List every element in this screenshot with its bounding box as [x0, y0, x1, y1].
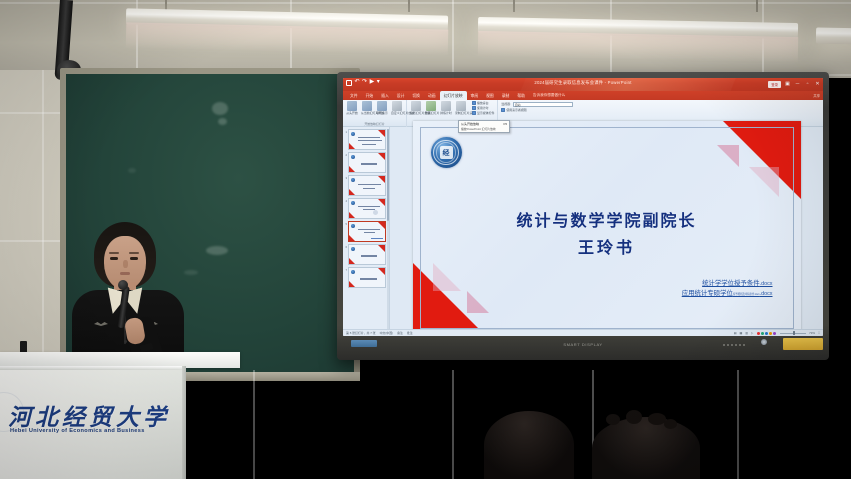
zoom-slider[interactable] [780, 333, 806, 334]
window-title: 2024届研究生录取信息发布会课件 - PowerPoint [343, 80, 823, 86]
slide-thumbnail[interactable] [348, 129, 386, 150]
close-icon[interactable]: ✕ [814, 80, 821, 89]
lecture-hall-scene: 讲台管理 违者必究 河北经贸大学 Hebei University of Eco… [0, 0, 851, 479]
ribbon-tooltip: 从头开始放映 F5 播放PowerPoint 幻灯片放映 [458, 120, 510, 133]
university-seal-icon: 经 [431, 137, 462, 168]
tab-help[interactable]: 帮助 [513, 91, 529, 100]
ppt-workspace: 1 2 [343, 127, 823, 329]
audience-head-1 [484, 411, 574, 479]
app-name: PowerPoint [608, 80, 632, 85]
list-item[interactable]: 3 [344, 175, 388, 196]
list-item[interactable]: 7 [344, 267, 388, 288]
tab-review[interactable]: 审阅 [467, 91, 483, 100]
share-button[interactable]: 共享 [813, 93, 820, 98]
ppt-title-bar: ↶ ↷ ▶ ▾ 2024届研究生录取信息发布会课件 - PowerPoint 登… [343, 78, 823, 91]
thumbnail-scrollbar-thumb[interactable] [387, 129, 389, 221]
document-title: 2024届研究生录取信息发布会课件 [534, 80, 603, 85]
ceiling [0, 0, 851, 78]
checkbox-icon[interactable] [501, 108, 505, 112]
power-button-icon[interactable] [761, 339, 767, 345]
tooltip-shortcut: F5 [503, 122, 507, 126]
tab-slideshow[interactable]: 幻灯片放映 [440, 91, 467, 100]
tab-insert[interactable]: 插入 [377, 91, 393, 100]
checkbox-play-narrations[interactable]: 播放旁白 [472, 101, 494, 105]
ime-status-indicator[interactable] [756, 332, 777, 335]
presenter-speaker [68, 222, 186, 372]
slide-thumbnail[interactable] [348, 244, 386, 265]
checkbox-icon[interactable] [472, 101, 476, 105]
btn-custom-slideshow[interactable]: 自定义幻灯片放映 [391, 101, 403, 115]
slide-thumbnail[interactable] [348, 152, 386, 173]
university-name-chinese: 河北经贸大学 [8, 398, 170, 432]
tooltip-description: 播放PowerPoint 幻灯片放映 [461, 127, 507, 131]
ceiling-light-far-right [816, 27, 851, 44]
restore-icon[interactable]: ▣ [784, 80, 791, 89]
university-name-english: Hebei University of Economics and Busine… [10, 428, 145, 434]
notes-button[interactable]: 备注 [397, 331, 403, 335]
list-item[interactable]: 1 [344, 129, 388, 150]
checkbox-show-media-controls[interactable]: 显示媒体控件 [472, 111, 494, 115]
tab-view[interactable]: 视图 [482, 91, 498, 100]
monitor-select[interactable]: 自动 [513, 102, 573, 107]
slide-sorter-icon[interactable]: ▦ [739, 331, 742, 335]
slide-thumbnail[interactable] [348, 198, 386, 219]
tab-home[interactable]: 开始 [362, 91, 378, 100]
btn-from-beginning[interactable]: 从头开始 [346, 101, 358, 115]
microphone-head [118, 280, 128, 290]
language-indicator[interactable]: 中文(中国) [380, 331, 394, 335]
list-item[interactable]: 4 [344, 198, 388, 219]
tooltip-title: 从头开始放映 [461, 122, 479, 126]
btn-record-slideshow[interactable]: 录制幻灯片演示 [455, 101, 467, 115]
reading-view-icon[interactable]: ▥ [745, 331, 748, 335]
slideshow-view-icon[interactable]: ▷ [751, 331, 753, 335]
slide-hyperlinks[interactable]: 统计学学位授予条件.docx 应用统计专硕学位授予细则及申请条件.docx.do… [682, 279, 773, 299]
audience-head-2 [592, 417, 700, 479]
checkbox-icon[interactable] [472, 111, 476, 115]
ribbon-group-start-slideshow: 从头开始 从当前幻灯片开始 联机演示 [343, 100, 407, 127]
btn-from-current-slide[interactable]: 从当前幻灯片开始 [361, 101, 373, 115]
btn-rehearse-timings[interactable]: 排练计时 [440, 101, 452, 115]
slide-thumbnail[interactable] [348, 267, 386, 288]
slide-thumbnail-panel[interactable]: 1 2 [343, 127, 390, 329]
slide-indicator: 第 5 张幻灯片，共 7 张 [346, 331, 376, 335]
powerpoint-window[interactable]: ↶ ↷ ▶ ▾ 2024届研究生录取信息发布会课件 - PowerPoint 登… [343, 78, 823, 336]
minimize-icon[interactable]: － [794, 80, 801, 89]
slide-thumbnail-selected[interactable] [348, 221, 386, 242]
maximize-icon[interactable]: ▫ [804, 80, 811, 89]
current-slide[interactable]: 经 统计与数学学院副院长 王玲书 统计学学位授予条件.docx 应用统计专硕学位… [413, 121, 801, 335]
display-brand-label: SMART DISPLAY [337, 342, 829, 347]
list-item[interactable]: 2 [344, 152, 388, 173]
btn-hide-slide[interactable]: 隐藏幻灯片 [425, 101, 437, 115]
list-item[interactable]: 5 [344, 221, 388, 242]
checkbox-use-timings[interactable]: 使用计时 [472, 106, 494, 110]
hyperlink-2[interactable]: 应用统计专硕学位授予细则及申请条件.docx.docx [682, 289, 773, 299]
display-side-sticker [351, 340, 377, 347]
slide-thumbnail[interactable] [348, 175, 386, 196]
tab-file[interactable]: 文件 [346, 91, 362, 100]
tab-design[interactable]: 设计 [393, 91, 409, 100]
ppt-status-bar[interactable]: 第 5 张幻灯片，共 7 张 中文(中国) 备注 批注 ▤ ▦ ▥ ▷ [343, 329, 823, 336]
display-screen[interactable]: ↶ ↷ ▶ ▾ 2024届研究生录取信息发布会课件 - PowerPoint 登… [343, 78, 823, 336]
tell-me-search[interactable]: 告诉我你想要做什么 [533, 93, 565, 98]
slide-title: 统计与数学学院副院长 [413, 207, 801, 231]
hyperlink-1[interactable]: 统计学学位授予条件.docx [682, 279, 773, 289]
btn-present-online[interactable]: 联机演示 [376, 101, 388, 115]
smart-display: ↶ ↷ ▶ ▾ 2024届研究生录取信息发布会课件 - PowerPoint 登… [337, 72, 829, 360]
display-indicator-dots [723, 340, 745, 349]
normal-view-icon[interactable]: ▤ [734, 331, 737, 335]
ribbon-tab-bar[interactable]: 文件 开始 插入 设计 切换 动画 幻灯片放映 审阅 视图 录制 帮助 告诉我你… [343, 91, 823, 100]
monitor-label: 监视器: [501, 102, 510, 106]
comments-button[interactable]: 批注 [407, 331, 413, 335]
slide-canvas-area[interactable]: 经 统计与数学学院副院长 王玲书 统计学学位授予条件.docx 应用统计专硕学位… [390, 127, 823, 329]
checkbox-icon[interactable] [472, 106, 476, 110]
group-label-start-slideshow: 开始放映幻灯片 [364, 122, 384, 127]
list-item[interactable]: 6 [344, 244, 388, 265]
display-warning-label [783, 338, 823, 350]
fit-to-window-icon[interactable]: ⛶ [818, 331, 820, 335]
btn-setup-slideshow[interactable]: 设置幻灯片放映 [410, 101, 422, 115]
slide-subtitle: 王玲书 [413, 234, 801, 258]
tab-transitions[interactable]: 切换 [408, 91, 424, 100]
zoom-level[interactable]: 73% [809, 331, 815, 335]
checkbox-use-presenter-view[interactable]: 使用演示者视图 [501, 108, 526, 112]
sign-in-button[interactable]: 登录 [768, 81, 781, 88]
tab-record[interactable]: 录制 [498, 91, 514, 100]
tab-animations[interactable]: 动画 [424, 91, 440, 100]
